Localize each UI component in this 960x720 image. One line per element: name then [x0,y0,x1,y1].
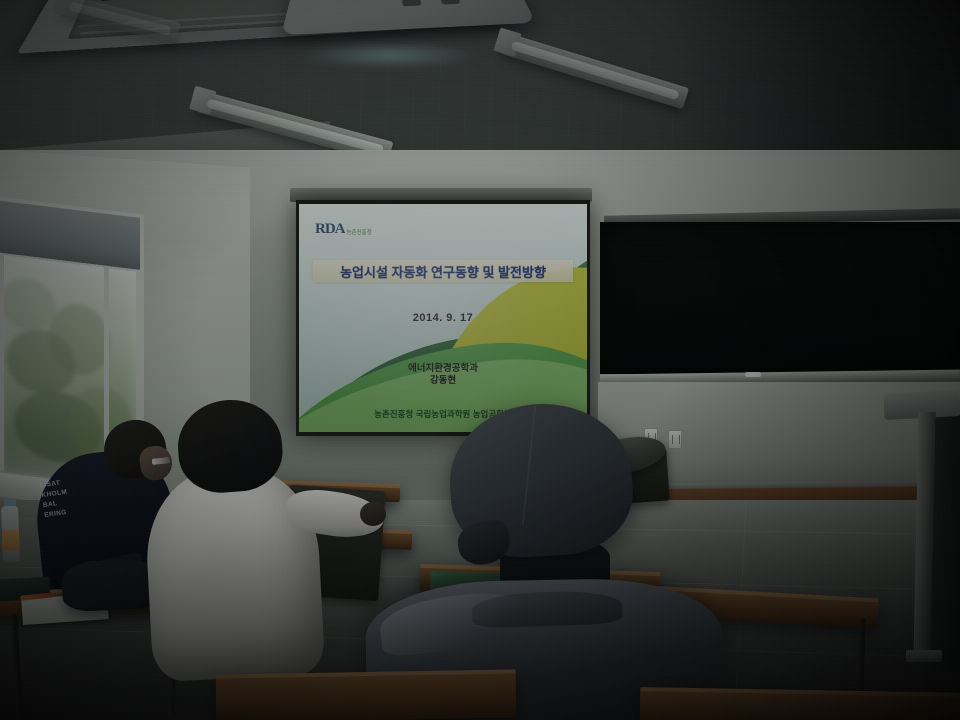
student-white-hand [360,502,386,526]
presentation-slide: RDA 농촌진흥청 농업시설 자동화 연구동향 및 발전방향 2014. 9. … [299,204,587,432]
rda-logo: RDA 농촌진흥청 [315,222,372,237]
bottle-label [2,530,19,550]
projector-light-glow [300,42,480,68]
slide-date: 2014. 9. 17 [299,312,587,324]
screen-surface: RDA 농촌진흥청 농업시설 자동화 연구동향 및 발전방향 2014. 9. … [299,204,587,432]
window-mullion [0,255,4,471]
slide-title: 농업시설 자동화 연구동향 및 발전방향 [340,262,546,281]
slide-title-band: 농업시설 자동화 연구동향 및 발전방향 [313,260,573,282]
projection-screen: RDA 농촌진흥청 농업시설 자동화 연구동향 및 발전방향 2014. 9. … [296,200,590,436]
desk [216,669,517,720]
desk [640,687,960,720]
slide-presenter-name: 강동현 [299,372,587,386]
classroom-photo: RDA 농촌진흥청 농업시설 자동화 연구동향 및 발전방향 2014. 9. … [0,0,960,720]
projector-foot [402,0,421,6]
chalk-piece [745,372,761,377]
wall-outlet[interactable] [668,430,682,449]
lectern-base [906,650,942,662]
chalkboard [600,222,960,374]
rda-logo-mark: RDA [315,222,345,237]
rda-logo-subtitle: 농촌진흥청 [347,231,372,238]
